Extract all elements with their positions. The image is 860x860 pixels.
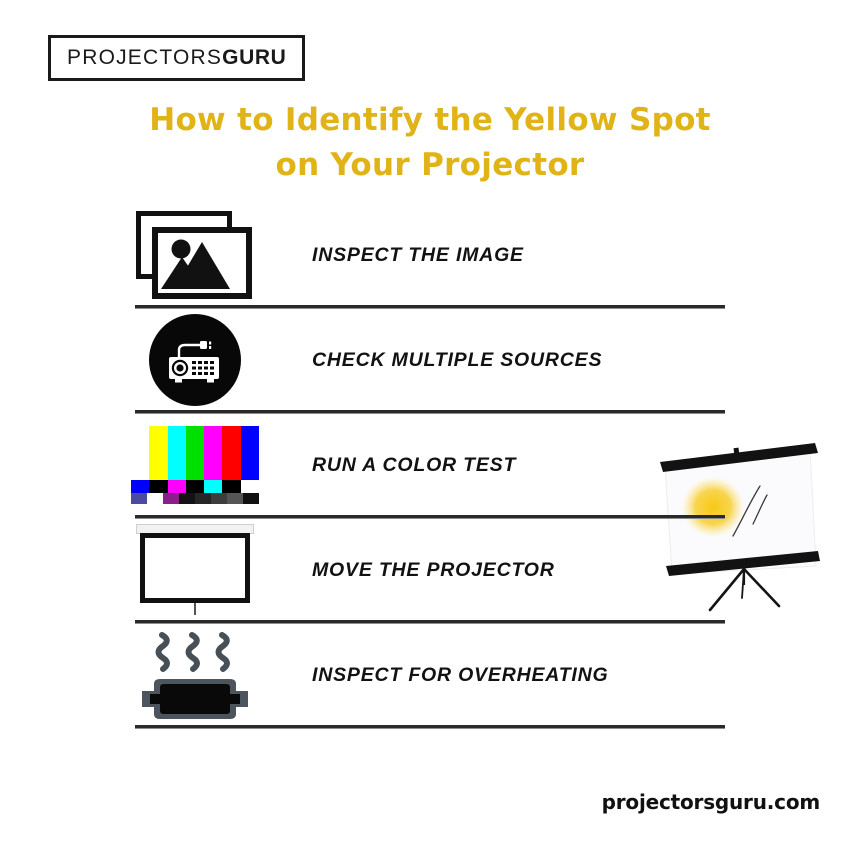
color-bar (227, 493, 243, 504)
page-title-line1: How to Identify the Yellow Spot (130, 98, 730, 143)
step-label: INSPECT FOR OVERHEATING (312, 664, 608, 687)
color-bar (241, 480, 259, 493)
color-bar (211, 493, 227, 504)
color-bar (241, 426, 259, 480)
color-bar (195, 493, 211, 504)
color-bar (163, 493, 179, 504)
page-title: How to Identify the Yellow Spot on Your … (130, 98, 730, 188)
color-bar (243, 493, 259, 504)
row-divider (135, 620, 725, 624)
brand-logo-part2: GURU (222, 46, 286, 69)
brand-logo: PROJECTORSGURU (48, 35, 305, 81)
color-bar (204, 480, 222, 493)
color-bar (147, 493, 163, 504)
row-divider (135, 305, 725, 309)
color-bar (131, 493, 147, 504)
color-bar (149, 480, 167, 493)
footer-website: projectorsguru.com (540, 790, 820, 814)
overheating-icon (120, 625, 270, 725)
color-bar (149, 426, 167, 480)
row-divider (135, 515, 725, 519)
color-bars-top-row (131, 426, 259, 480)
step-label: INSPECT THE IMAGE (312, 244, 524, 267)
step-row-run-a-color-test: RUN A COLOR TEST (0, 415, 860, 520)
page-title-line2: on Your Projector (130, 143, 730, 188)
color-bar (131, 480, 149, 493)
brand-logo-part1: PROJECTORS (67, 46, 222, 69)
projection-screen-icon (120, 520, 270, 620)
color-bar (222, 480, 240, 493)
color-bar (131, 426, 149, 480)
color-bar (222, 426, 240, 480)
infographic-page: PROJECTORSGURU How to Identify the Yello… (0, 0, 860, 860)
color-bar (179, 493, 195, 504)
color-bar (204, 426, 222, 480)
color-bar (186, 480, 204, 493)
row-divider (135, 725, 725, 729)
row-divider (135, 410, 725, 414)
color-bars-bottom-row (131, 493, 259, 504)
step-row-check-multiple-sources: CHECK MULTIPLE SOURCES (0, 310, 860, 415)
stacked-photo-icon (120, 205, 270, 305)
step-label: RUN A COLOR TEST (312, 454, 516, 477)
color-bar (168, 480, 186, 493)
color-bar (168, 426, 186, 480)
step-row-inspect-for-overheating: INSPECT FOR OVERHEATING (0, 625, 860, 730)
step-row-inspect-the-image: INSPECT THE IMAGE (0, 205, 860, 310)
color-bar (186, 426, 204, 480)
brand-logo-text: PROJECTORSGURU (67, 47, 286, 68)
steps-list: INSPECT THE IMAGE (0, 205, 860, 730)
color-bars-icon (120, 415, 270, 515)
step-label: MOVE THE PROJECTOR (312, 559, 555, 582)
projector-circle-icon (120, 310, 270, 410)
step-label: CHECK MULTIPLE SOURCES (312, 349, 602, 372)
step-row-move-the-projector: MOVE THE PROJECTOR (0, 520, 860, 625)
color-bars-middle-row (131, 480, 259, 493)
